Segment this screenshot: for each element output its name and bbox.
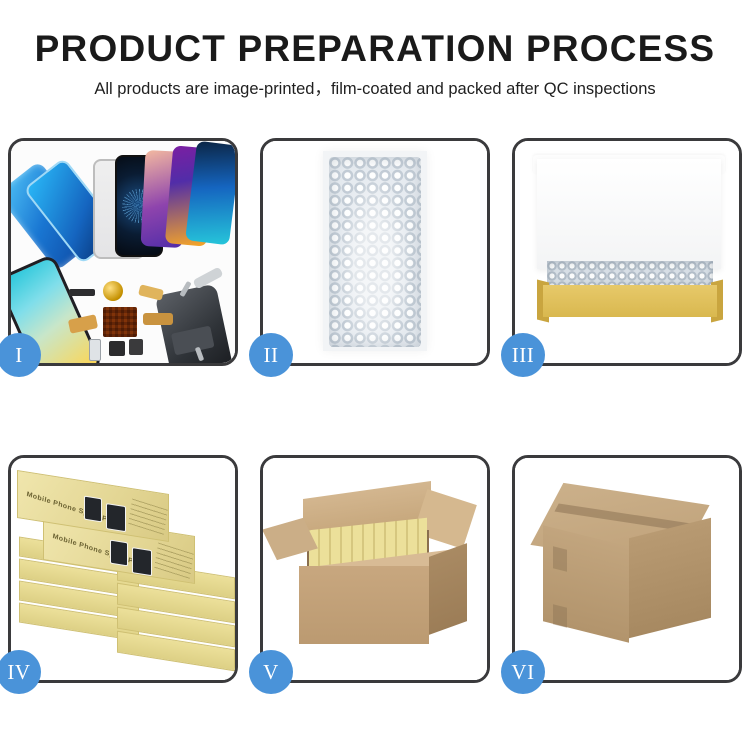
box-phone-image-3	[110, 540, 128, 567]
bubble-film	[329, 157, 421, 347]
open-carton-scene	[263, 458, 487, 680]
step-panel-4: Mobile Phone Spare Parts Mobile Phone Sp…	[8, 455, 238, 683]
step-image-6	[515, 458, 739, 680]
step-badge-1: I	[0, 333, 41, 377]
step-badge-4: IV	[0, 650, 41, 694]
box-phone-image-2	[106, 503, 126, 532]
step-image-4: Mobile Phone Spare Parts Mobile Phone Sp…	[11, 458, 235, 680]
gold-coil-part	[103, 281, 123, 301]
flex-cable-part-2	[143, 313, 173, 325]
copper-grid-part	[103, 307, 137, 337]
step-panel-6: VI	[512, 455, 742, 683]
kraft-box-front	[543, 285, 717, 317]
carton-side-face	[429, 543, 467, 635]
bubble-wrap-inside-box	[547, 261, 713, 287]
step-badge-3: III	[501, 333, 545, 377]
step-image-1	[11, 141, 235, 363]
phone-parts-scene	[11, 141, 235, 363]
speaker-bar-part	[69, 289, 95, 296]
chip-part-1	[109, 341, 125, 356]
step-panel-3: III	[512, 138, 742, 366]
inner-box-scene	[515, 141, 739, 363]
sealed-carton-right-face	[629, 518, 711, 638]
box-stack: Mobile Phone Spare Parts Mobile Phone Sp…	[13, 472, 235, 672]
step-badge-6: VI	[501, 650, 545, 694]
box-spec-lines-middle	[154, 543, 194, 579]
box-phone-image-1	[84, 496, 102, 523]
bubble-wrap-scene	[263, 141, 487, 363]
step-image-5	[263, 458, 487, 680]
step-panel-2: II	[260, 138, 490, 366]
step-panel-1: I	[8, 138, 238, 366]
step-badge-2: II	[249, 333, 293, 377]
flex-cable-part-3	[138, 284, 164, 300]
step-image-3	[515, 141, 739, 363]
step-panel-5: V	[260, 455, 490, 683]
box-spec-lines-top	[128, 499, 168, 535]
page-subtitle: All products are image-printed，film-coat…	[0, 81, 750, 98]
page-title: PRODUCT PREPARATION PROCESS	[0, 30, 750, 67]
sim-tray-part	[89, 339, 101, 361]
product-preparation-infographic: PRODUCT PREPARATION PROCESS All products…	[0, 0, 750, 750]
sealed-carton-tape-lower	[553, 604, 567, 627]
sealed-carton-scene	[515, 458, 739, 680]
stacked-boxes-scene: Mobile Phone Spare Parts Mobile Phone Sp…	[11, 458, 235, 680]
box-phone-image-4	[132, 547, 152, 576]
sealed-carton-tape-upper	[553, 546, 567, 571]
carton-front-face	[299, 566, 429, 644]
step-image-2	[263, 141, 487, 363]
step-badge-5: V	[249, 650, 293, 694]
steps-grid: I II	[8, 138, 742, 683]
header: PRODUCT PREPARATION PROCESS All products…	[0, 0, 750, 98]
chip-part-2	[129, 339, 143, 355]
white-box-lid	[537, 159, 721, 269]
